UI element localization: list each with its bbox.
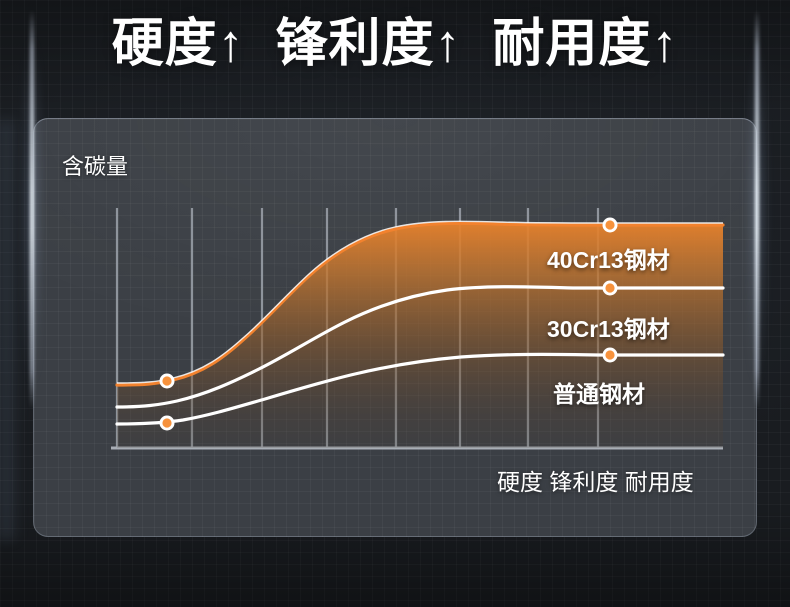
series-label-putong: 普通钢材 [553, 375, 645, 409]
series-label-40cr13: 40Cr13钢材 [547, 241, 670, 275]
page-title: 硬度↑ 锋利度↑ 耐用度↑ [0, 13, 790, 75]
series-label-30cr13: 30Cr13钢材 [547, 310, 670, 344]
product-infographic: 硬度↑ 锋利度↑ 耐用度↑ [0, 0, 790, 607]
background-left-glow [0, 120, 26, 540]
chart-y-axis-label: 含碳量 [62, 149, 128, 181]
chart-x-axis-label: 硬度 锋利度 耐用度 [497, 463, 694, 497]
